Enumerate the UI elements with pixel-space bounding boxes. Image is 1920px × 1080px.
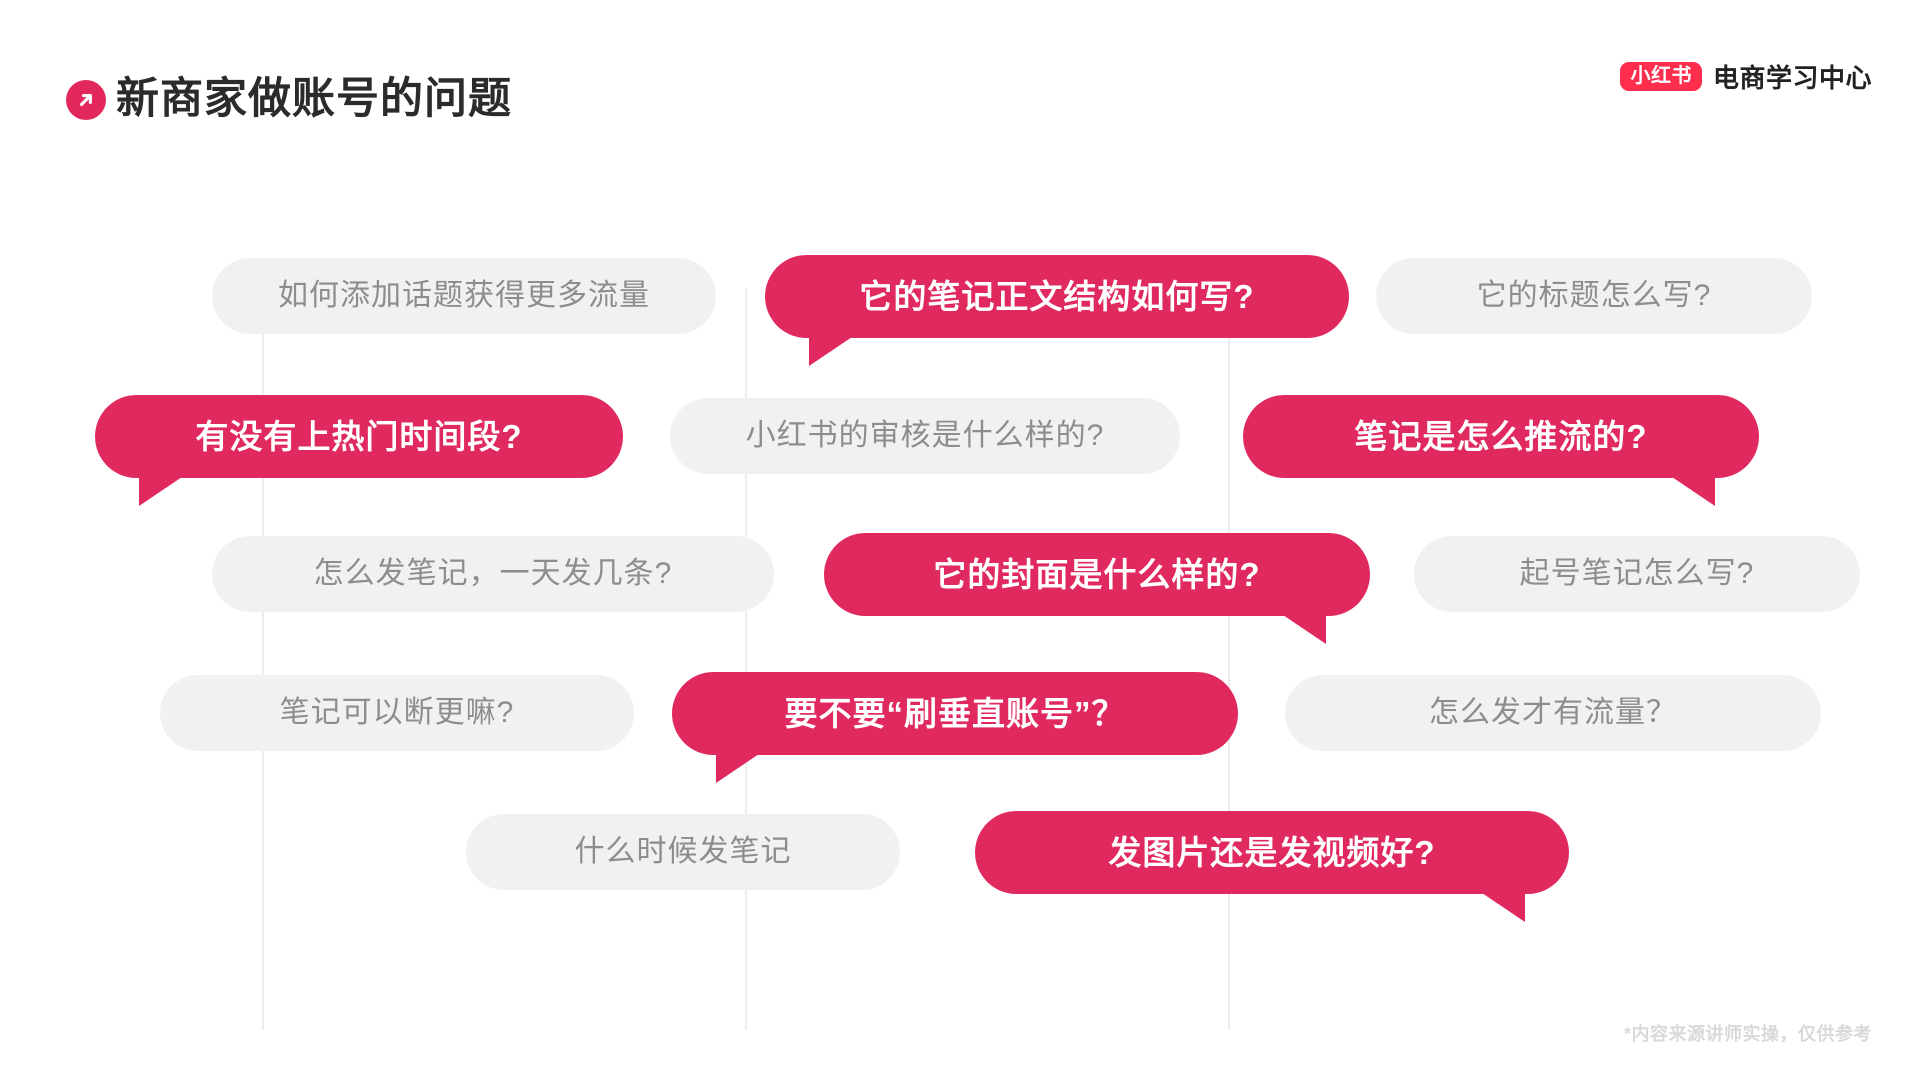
question-bubble[interactable]: 发图片还是发视频好? <box>975 811 1569 894</box>
question-bubble-label: 怎么发笔记，一天发几条? <box>314 559 673 589</box>
question-bubble[interactable]: 它的标题怎么写? <box>1376 258 1812 334</box>
question-bubble-label: 有没有上热门时间段? <box>195 420 522 453</box>
question-bubble[interactable]: 有没有上热门时间段? <box>95 395 623 478</box>
question-bubble[interactable]: 笔记是怎么推流的? <box>1243 395 1759 478</box>
question-bubble-label: 笔记可以断更嘛? <box>280 698 515 728</box>
question-bubble[interactable]: 它的封面是什么样的? <box>824 533 1370 616</box>
question-bubble[interactable]: 如何添加话题获得更多流量 <box>212 258 716 334</box>
question-bubble[interactable]: 什么时候发笔记 <box>466 814 900 890</box>
question-bubble[interactable]: 笔记可以断更嘛? <box>160 675 634 751</box>
question-bubble-label: 起号笔记怎么写? <box>1520 559 1755 589</box>
bubble-tail-right <box>1669 475 1715 506</box>
bubble-tail-left <box>139 475 185 506</box>
question-bubble[interactable]: 怎么发才有流量？ <box>1285 675 1821 751</box>
bubble-tail-right <box>1280 613 1326 644</box>
question-bubble-label: 发图片还是发视频好? <box>1108 836 1435 869</box>
question-bubble[interactable]: 怎么发笔记，一天发几条? <box>212 536 774 612</box>
question-bubble-label: 要不要“刷垂直账号”？ <box>785 697 1126 730</box>
bubble-tail-right <box>1479 891 1525 922</box>
question-bubble-canvas: 如何添加话题获得更多流量它的笔记正文结构如何写?它的标题怎么写?有没有上热门时间… <box>0 0 1920 1080</box>
question-bubble-label: 笔记是怎么推流的? <box>1354 420 1647 453</box>
question-bubble-label: 它的封面是什么样的? <box>933 558 1260 591</box>
footer-disclaimer: *内容来源讲师实操，仅供参考 <box>1624 1020 1872 1046</box>
question-bubble-label: 小红书的审核是什么样的? <box>746 421 1105 451</box>
question-bubble[interactable]: 它的笔记正文结构如何写? <box>765 255 1349 338</box>
question-bubble[interactable]: 起号笔记怎么写? <box>1414 536 1860 612</box>
question-bubble-label: 如何添加话题获得更多流量 <box>278 281 650 311</box>
question-bubble-label: 它的笔记正文结构如何写? <box>859 280 1254 313</box>
question-bubble-label: 什么时候发笔记 <box>575 837 792 867</box>
question-bubble[interactable]: 要不要“刷垂直账号”？ <box>672 672 1238 755</box>
bubble-tail-left <box>809 335 855 366</box>
question-bubble-label: 它的标题怎么写? <box>1477 281 1712 311</box>
question-bubble-label: 怎么发才有流量？ <box>1429 698 1677 728</box>
bubble-tail-left <box>716 752 762 783</box>
question-bubble[interactable]: 小红书的审核是什么样的? <box>670 398 1180 474</box>
